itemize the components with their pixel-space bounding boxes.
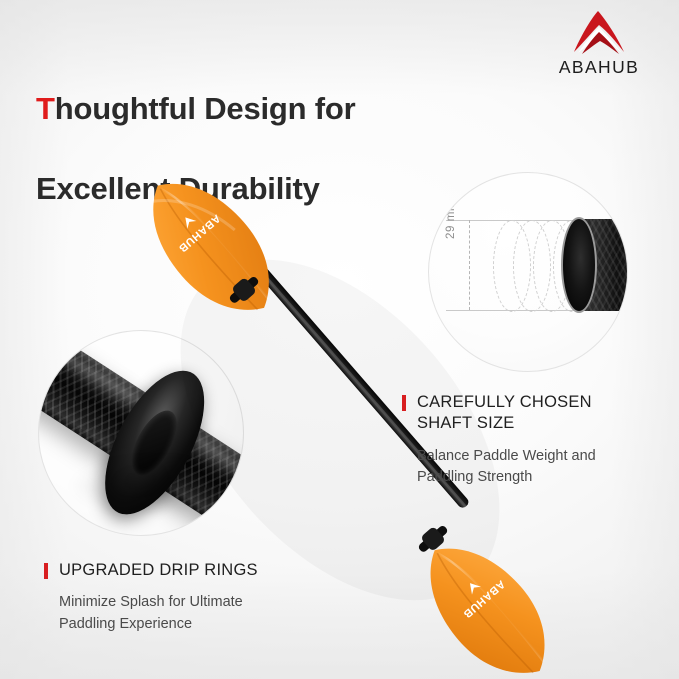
callout-circle-drip-ring <box>38 330 244 536</box>
drop-shadow <box>69 457 239 515</box>
paddle-blade-lower: ABAHUB <box>404 523 571 679</box>
abahub-wave-a-icon <box>568 8 630 56</box>
headline-accent-letter: T <box>36 91 55 126</box>
infographic-canvas: ABAHUB Thoughtful Design for Excellent D… <box>0 0 679 679</box>
blade-brand-text: ABAHUB <box>460 578 507 621</box>
page-title: Thoughtful Design for Excellent Durabili… <box>36 49 356 209</box>
shaft-diameter-diagram: 29 mm <box>429 173 627 371</box>
headline-line-2: Excellent Durability <box>36 171 320 206</box>
callout-circle-shaft-size: 29 mm <box>428 172 628 372</box>
feature-block-shaft-size: CAREFULLY CHOSEN SHAFT SIZE Balance Padd… <box>402 392 662 488</box>
dimension-label: 29 mm <box>445 201 457 239</box>
feature-subtitle: Minimize Splash for Ultimate Paddling Ex… <box>59 592 334 634</box>
shaft-cross-section-face <box>561 217 597 313</box>
drip-ring-upper <box>225 272 263 309</box>
feature-subtitle: Balance Paddle Weight and Paddling Stren… <box>417 446 662 488</box>
brand-wordmark: ABAHUB <box>545 57 653 78</box>
brand-logo: ABAHUB <box>545 8 653 78</box>
accent-bar <box>402 395 406 411</box>
drip-ring-lower <box>414 521 452 558</box>
accent-bar <box>44 563 48 579</box>
feature-title: UPGRADED DRIP RINGS <box>59 560 258 581</box>
feature-title: CAREFULLY CHOSEN SHAFT SIZE <box>417 392 592 435</box>
dimension-arrow <box>469 220 470 310</box>
feature-block-drip-rings: UPGRADED DRIP RINGS Minimize Splash for … <box>44 560 334 635</box>
blade-brand-text: ABAHUB <box>176 212 223 255</box>
headline-line-1: houghtful Design for <box>55 91 356 126</box>
